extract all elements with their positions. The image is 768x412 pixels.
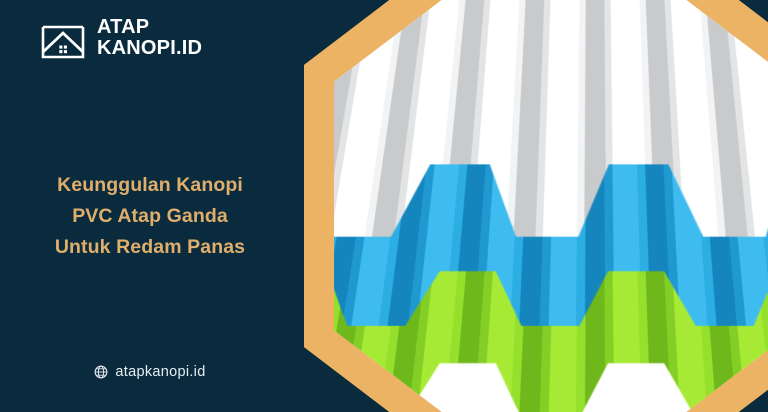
brand-name-line2: KANOPI.ID <box>97 38 202 59</box>
roof-sheet-stack <box>334 0 768 412</box>
headline: Keunggulan Kanopi PVC Atap Ganda Untuk R… <box>0 170 300 262</box>
artwork-panel <box>300 0 768 412</box>
brand-name: ATAP KANOPI.ID <box>97 17 202 60</box>
house-roof-icon <box>40 16 86 60</box>
globe-icon <box>94 365 108 379</box>
headline-line-2: PVC Atap Ganda <box>14 201 286 232</box>
headline-line-1: Keunggulan Kanopi <box>14 170 286 201</box>
footer-url-text: atapkanopi.id <box>115 364 205 380</box>
brand-name-line1: ATAP <box>97 17 202 38</box>
promo-banner: ATAP KANOPI.ID Keunggulan Kanopi PVC Ata… <box>0 0 768 412</box>
brand-logo: ATAP KANOPI.ID <box>40 16 202 60</box>
headline-line-3: Untuk Redam Panas <box>14 232 286 263</box>
footer-website[interactable]: atapkanopi.id <box>0 364 300 380</box>
